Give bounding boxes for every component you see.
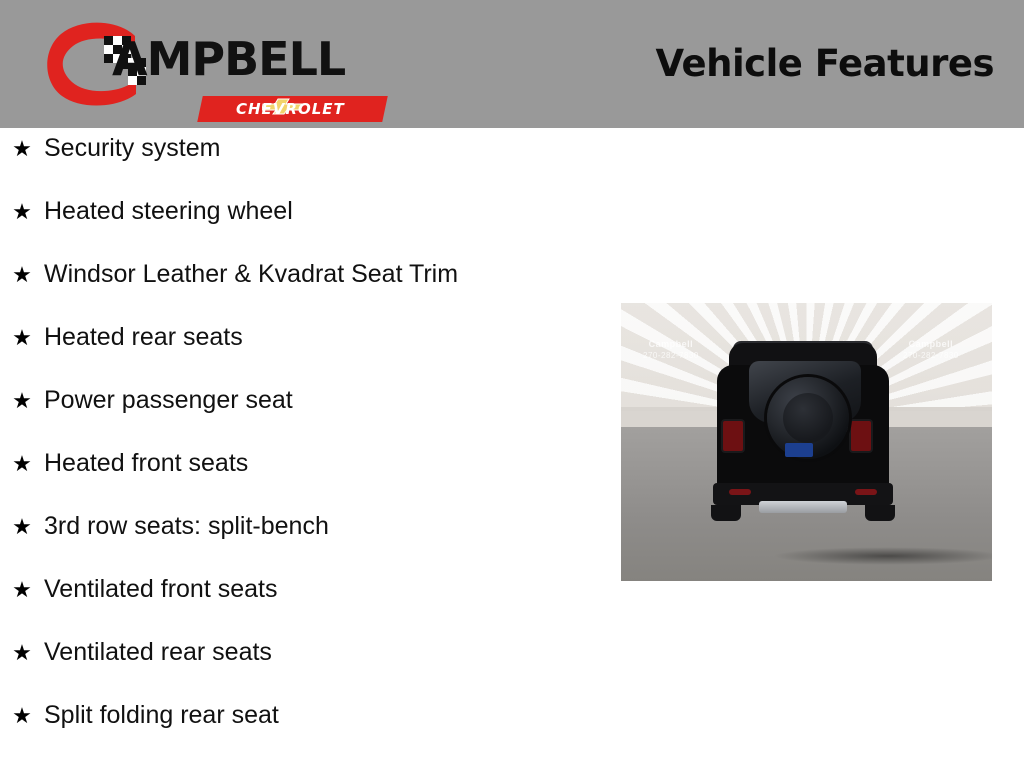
list-item: ★ Heated front seats xyxy=(0,449,600,512)
features-list: ★ Security system ★ Heated steering whee… xyxy=(0,134,600,764)
vehicle-photo: Campbell 270-282-7830 bell bell Campbell… xyxy=(621,303,992,581)
list-item: ★ Split folding rear seat xyxy=(0,701,600,764)
watermark: Campbell 270-282-7830 xyxy=(903,339,959,361)
list-item: ★ 3rd row seats: split-bench xyxy=(0,512,600,575)
feature-label: Heated steering wheel xyxy=(44,197,293,226)
star-icon: ★ xyxy=(0,453,44,475)
feature-label: Windsor Leather & Kvadrat Seat Trim xyxy=(44,260,458,289)
star-icon: ★ xyxy=(0,642,44,664)
spare-tire-hub xyxy=(783,393,833,443)
feature-label: Power passenger seat xyxy=(44,386,293,415)
feature-label: Ventilated front seats xyxy=(44,575,277,604)
star-icon: ★ xyxy=(0,138,44,160)
watermark-name: Campbell xyxy=(909,339,954,349)
bumper-reflector-right xyxy=(855,489,877,495)
feature-label: Split folding rear seat xyxy=(44,701,279,730)
list-item: ★ Heated rear seats xyxy=(0,323,600,386)
feature-label: Security system xyxy=(44,134,220,163)
star-icon: ★ xyxy=(0,579,44,601)
vehicle-rear-view xyxy=(703,333,903,528)
list-item: ★ Security system xyxy=(0,134,600,197)
dealer-logo: AMPBELL CHEVROLET xyxy=(40,14,385,124)
feature-label: Ventilated rear seats xyxy=(44,638,272,667)
rear-tire-right xyxy=(865,505,895,521)
vehicle-features-page: AMPBELL CHEVROLET Vehicle Features ★ Sec… xyxy=(0,0,1024,768)
logo-subbrand-text: CHEVROLET xyxy=(236,100,345,118)
taillight-left-icon xyxy=(721,419,745,453)
watermark-name: Campbell xyxy=(649,339,694,349)
watermark-phone: 270-282-7830 xyxy=(643,351,699,360)
list-item: ★ Ventilated rear seats xyxy=(0,638,600,701)
feature-label: Heated rear seats xyxy=(44,323,243,352)
star-icon: ★ xyxy=(0,264,44,286)
skid-plate xyxy=(759,501,847,513)
star-icon: ★ xyxy=(0,705,44,727)
star-icon: ★ xyxy=(0,516,44,538)
logo-brand-text: AMPBELL xyxy=(112,36,345,82)
taillight-right-icon xyxy=(849,419,873,453)
star-icon: ★ xyxy=(0,390,44,412)
rear-tire-left xyxy=(711,505,741,521)
list-item: ★ Ventilated front seats xyxy=(0,575,600,638)
list-item: ★ Power passenger seat xyxy=(0,386,600,449)
star-icon: ★ xyxy=(0,201,44,223)
list-item: ★ Heated steering wheel xyxy=(0,197,600,260)
license-plate xyxy=(785,443,813,457)
page-title: Vehicle Features xyxy=(655,42,994,85)
list-item: ★ Windsor Leather & Kvadrat Seat Trim xyxy=(0,260,600,323)
page-header: AMPBELL CHEVROLET Vehicle Features xyxy=(0,0,1024,128)
bumper-reflector-left xyxy=(729,489,751,495)
vehicle-shadow xyxy=(773,547,992,565)
star-icon: ★ xyxy=(0,327,44,349)
feature-label: Heated front seats xyxy=(44,449,248,478)
watermark-phone: 270-282-7830 xyxy=(903,351,959,360)
watermark: Campbell 270-282-7830 xyxy=(643,339,699,361)
feature-label: 3rd row seats: split-bench xyxy=(44,512,329,541)
